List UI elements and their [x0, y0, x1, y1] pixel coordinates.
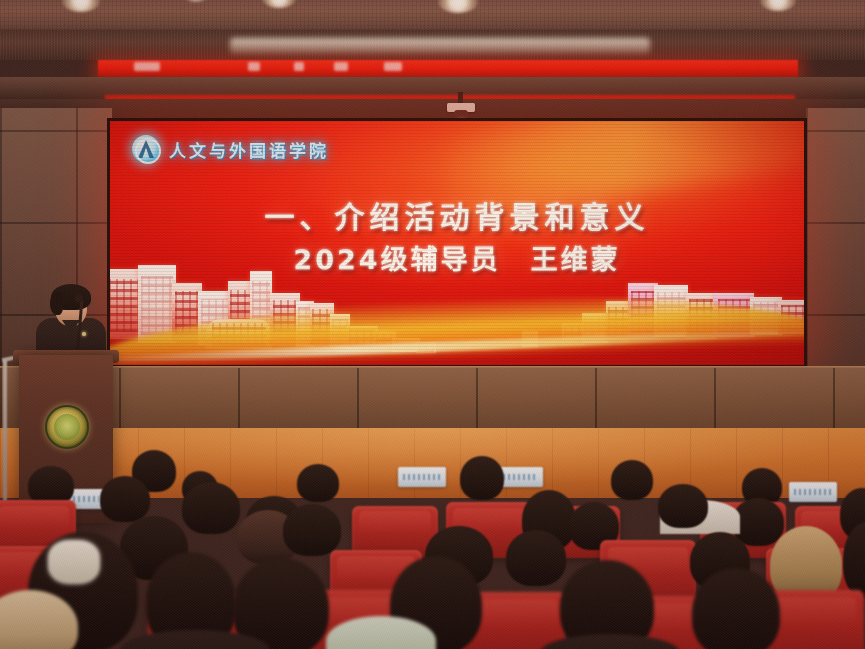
attendee-head	[611, 460, 653, 500]
attendee-head	[297, 464, 339, 502]
ceiling-glow-strip	[230, 38, 650, 54]
stage-back-wall	[0, 368, 865, 430]
ceiling-light-bar	[98, 60, 798, 77]
light-bar-blip	[294, 62, 304, 71]
light-bar-blip	[334, 62, 348, 71]
screen-vignette	[110, 121, 804, 365]
attendee-head	[100, 476, 150, 522]
podium-microphone-head	[75, 294, 83, 303]
hair-clip-accessory	[48, 540, 100, 584]
audience-seating-area	[0, 440, 865, 649]
attendee-head	[658, 484, 708, 528]
presenter-lapel-pin	[82, 332, 86, 336]
box-label	[498, 474, 538, 480]
presenter-hair-side	[50, 292, 63, 315]
auditorium-scene: 人文与外国语学院 一、介绍活动背景和意义 2024级辅导员 王维蒙	[0, 0, 865, 649]
right-wall-panels	[806, 108, 865, 408]
ceiling-perforation-texture	[0, 0, 865, 34]
wall-panel-shading	[806, 108, 865, 408]
attendee-head	[692, 568, 780, 649]
attendee-head	[460, 456, 504, 500]
box-label	[403, 474, 441, 480]
led-screen-frame: 人文与外国语学院 一、介绍活动背景和意义 2024级辅导员 王维蒙	[107, 118, 807, 368]
attendee-head	[283, 504, 341, 556]
light-bar-blip	[248, 62, 260, 71]
attendee-head	[506, 530, 566, 586]
desk-item-box	[789, 482, 837, 502]
box-label	[794, 489, 832, 495]
light-bar-blip	[134, 62, 160, 71]
led-presentation-screen[interactable]: 人文与外国语学院 一、介绍活动背景和意义 2024级辅导员 王维蒙	[110, 121, 804, 365]
ceiling	[0, 0, 865, 34]
light-bar-blip	[384, 62, 402, 71]
attendee-head	[182, 482, 240, 534]
desk-item-box	[398, 467, 446, 487]
